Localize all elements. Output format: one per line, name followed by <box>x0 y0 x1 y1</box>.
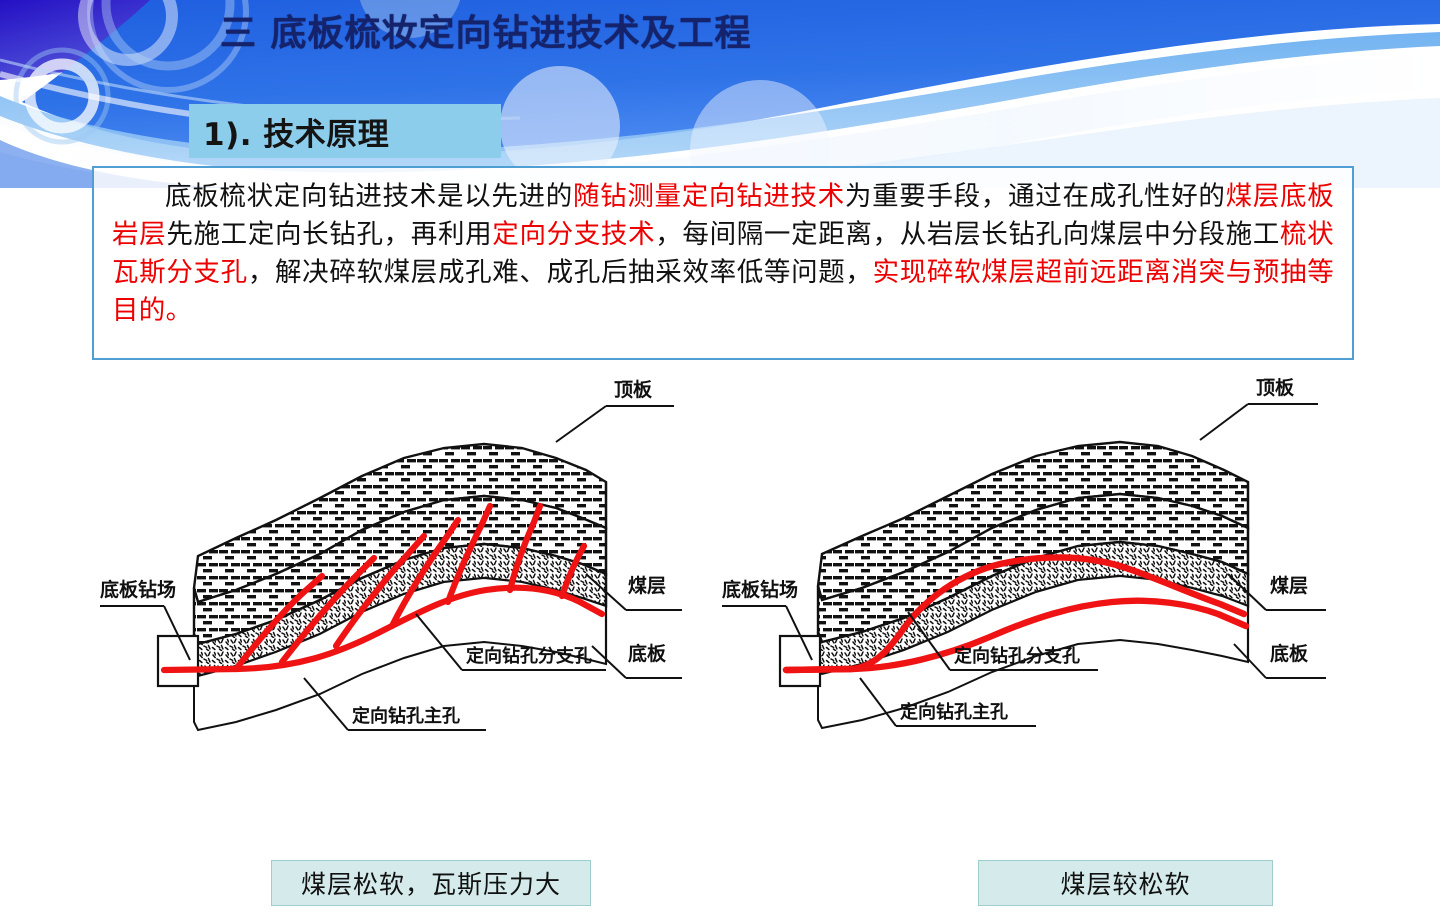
caption-right-label: 煤层较松软 <box>1060 865 1190 901</box>
figure-right-comb-drilling: 底板钻场 顶板 煤层 底板 <box>700 378 1360 768</box>
paragraph-text-4: 先施工定向长钻孔，再利用 <box>166 219 492 250</box>
label-right-drill-site: 底板钻场 <box>722 578 798 601</box>
label-left-coal-seam: 煤层 <box>628 575 666 597</box>
principle-paragraph: 底板梳状定向钻进技术是以先进的随钻测量定向钻进技术为重要手段，通过在成孔性好的煤… <box>112 178 1334 330</box>
label-left-main-hole: 定向钻孔主孔 <box>352 705 460 727</box>
label-right-main-hole: 定向钻孔主孔 <box>900 701 1008 723</box>
principle-text-box: 底板梳状定向钻进技术是以先进的随钻测量定向钻进技术为重要手段，通过在成孔性好的煤… <box>92 166 1354 360</box>
paragraph-text-2: 为重要手段，通过在成孔性好的 <box>845 181 1226 212</box>
paragraph-highlight-1: 随钻测量定向钻进技术 <box>573 181 845 212</box>
caption-right: 煤层较松软 <box>978 860 1273 906</box>
label-right-floor: 底板 <box>1270 642 1309 665</box>
figure-left-comb-drilling: 底板钻场 顶板 煤层 底板 <box>86 378 686 778</box>
label-right-roof: 顶板 <box>1256 378 1295 399</box>
paragraph-highlight-5: 定向分支技术 <box>492 219 655 250</box>
label-left-roof: 顶板 <box>614 378 653 401</box>
caption-left: 煤层松软，瓦斯压力大 <box>271 860 591 906</box>
paragraph-text-6: ，每间隔一定距离，从岩层长钻孔向煤层中分段施工 <box>655 219 1280 250</box>
paragraph-text-0: 底板梳状定向钻进技术是以先进的 <box>165 181 573 212</box>
label-left-drill-site: 底板钻场 <box>100 578 176 601</box>
paragraph-text-8: ，解决碎软煤层成孔难、成孔后抽采效率低等问题， <box>248 257 873 288</box>
label-left-branch-hole: 定向钻孔分支孔 <box>466 645 592 667</box>
section-heading-chip: 1). 技术原理 <box>189 104 501 158</box>
label-right-branch-hole: 定向钻孔分支孔 <box>954 645 1080 667</box>
slide-title: 三 底板梳妆定向钻进技术及工程 <box>220 8 980 60</box>
label-right-coal-seam: 煤层 <box>1270 575 1308 597</box>
caption-left-label: 煤层松软，瓦斯压力大 <box>301 865 561 901</box>
label-left-floor: 底板 <box>628 642 667 665</box>
slide-root: 三 底板梳妆定向钻进技术及工程 1). 技术原理 底板梳状定向钻进技术是以先进的… <box>0 0 1440 918</box>
section-heading-label: 1). 技术原理 <box>189 109 389 154</box>
